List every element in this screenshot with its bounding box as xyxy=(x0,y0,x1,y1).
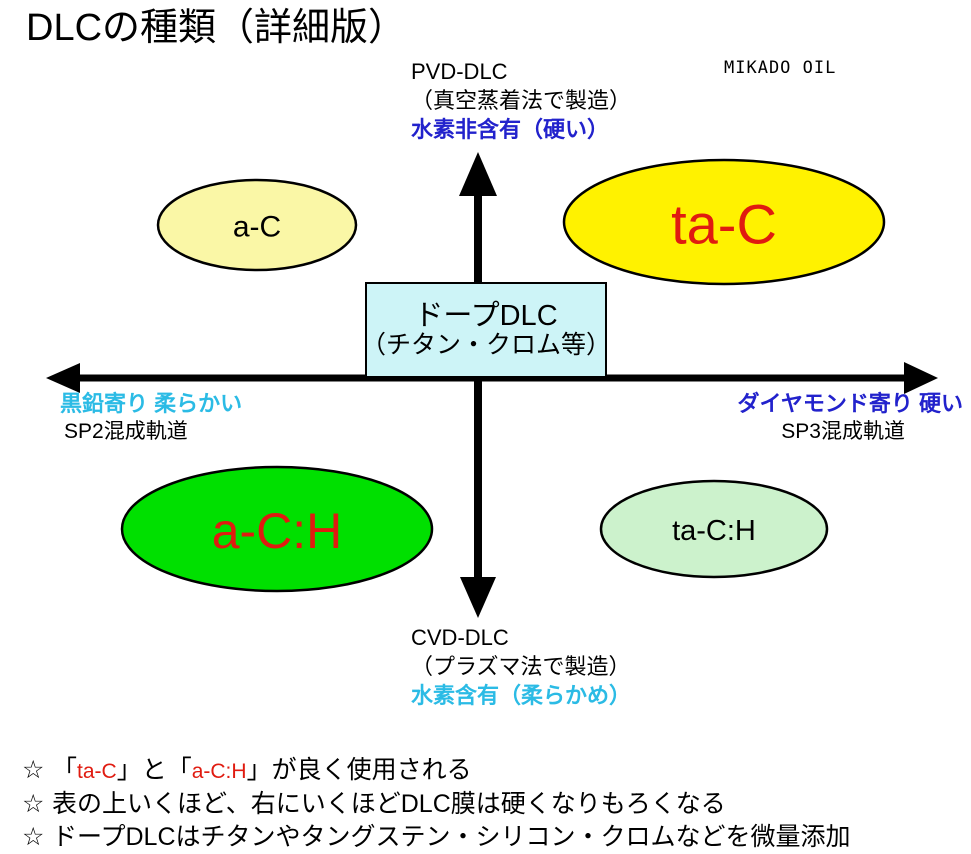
ellipse-a-c-h-label: a-C:H xyxy=(212,503,343,559)
star-icon: ☆ xyxy=(22,821,52,854)
note-segment: 」と「 xyxy=(117,756,192,784)
brand-label: MIKADO OIL xyxy=(724,58,836,78)
ellipse-ta-c-label: ta-C xyxy=(671,193,777,256)
note-segment: ta-C xyxy=(77,760,117,783)
note-segment: 」が良く使用される xyxy=(247,756,472,784)
axis-left-sub: SP2混成軌道 xyxy=(60,418,242,445)
ellipse-a-c-h-shape xyxy=(122,467,432,591)
note-item: ☆表の上いくほど、右にいくほどDLC膜は硬くなりもろくなる xyxy=(22,788,851,821)
ellipse-a-c-label: a-C xyxy=(233,211,281,244)
ellipse-a-c-h[interactable]: a-C:H xyxy=(122,467,432,591)
cvd-callout: CVD-DLC （プラズマ法で製造） 水素含有（柔らかめ） xyxy=(411,623,631,710)
star-icon: ☆ xyxy=(22,754,52,787)
note-segment: a-C:H xyxy=(192,760,247,783)
axis-label-left: 黒鉛寄り 柔らかい SP2混成軌道 xyxy=(60,390,242,445)
pvd-callout: PVD-DLC （真空蒸着法で製造） 水素非含有（硬い） xyxy=(411,57,631,144)
note-segment: 表の上いくほど、右にいくほどDLC膜は硬くなりもろくなる xyxy=(52,790,726,818)
note-item: ☆「ta-C」と「a-C:H」が良く使用される xyxy=(22,754,851,788)
slide-canvas: DLCの種類（詳細版） MIKADO OIL a-C ta-C xyxy=(0,0,971,854)
ellipse-ta-c-h-label: ta-C:H xyxy=(672,515,756,547)
ellipse-ta-c[interactable]: ta-C xyxy=(564,160,884,284)
cvd-title: CVD-DLC xyxy=(411,623,631,652)
doped-dlc-title: ドープDLC xyxy=(414,301,557,332)
vertical-axis-up xyxy=(459,152,497,283)
pvd-method: （真空蒸着法で製造） xyxy=(411,86,631,115)
pvd-title: PVD-DLC xyxy=(411,57,631,86)
doped-dlc-subtitle: （チタン・クロム等） xyxy=(361,332,611,359)
ellipse-a-c[interactable]: a-C xyxy=(158,180,356,270)
page-title: DLCの種類（詳細版） xyxy=(26,6,406,50)
axis-left-main: 黒鉛寄り 柔らかい xyxy=(60,390,242,418)
note-item: ☆ドープDLCはチタンやタングステン・シリコン・クロムなどを微量添加 xyxy=(22,821,851,854)
note-segment: 「 xyxy=(52,756,77,784)
axis-right-main: ダイヤモンド寄り 硬い xyxy=(738,390,963,418)
notes-list: ☆「ta-C」と「a-C:H」が良く使用される☆表の上いくほど、右にいくほどDL… xyxy=(22,754,851,854)
axis-right-sub: SP3混成軌道 xyxy=(738,418,963,445)
pvd-hydrogen: 水素非含有（硬い） xyxy=(411,115,631,144)
ellipse-ta-c-h-shape xyxy=(601,481,827,577)
note-segment: ドープDLCはチタンやタングステン・シリコン・クロムなどを微量添加 xyxy=(52,823,851,851)
doped-dlc-box[interactable]: ドープDLC （チタン・クロム等） xyxy=(365,282,607,378)
vertical-axis-down xyxy=(460,378,496,618)
cvd-hydrogen: 水素含有（柔らかめ） xyxy=(411,681,631,710)
star-icon: ☆ xyxy=(22,788,52,821)
ellipse-ta-c-shape xyxy=(564,160,884,284)
ellipse-a-c-shape xyxy=(158,180,356,270)
cvd-method: （プラズマ法で製造） xyxy=(411,652,631,681)
ellipse-ta-c-h[interactable]: ta-C:H xyxy=(601,481,827,577)
axis-label-right: ダイヤモンド寄り 硬い SP3混成軌道 xyxy=(738,390,963,445)
